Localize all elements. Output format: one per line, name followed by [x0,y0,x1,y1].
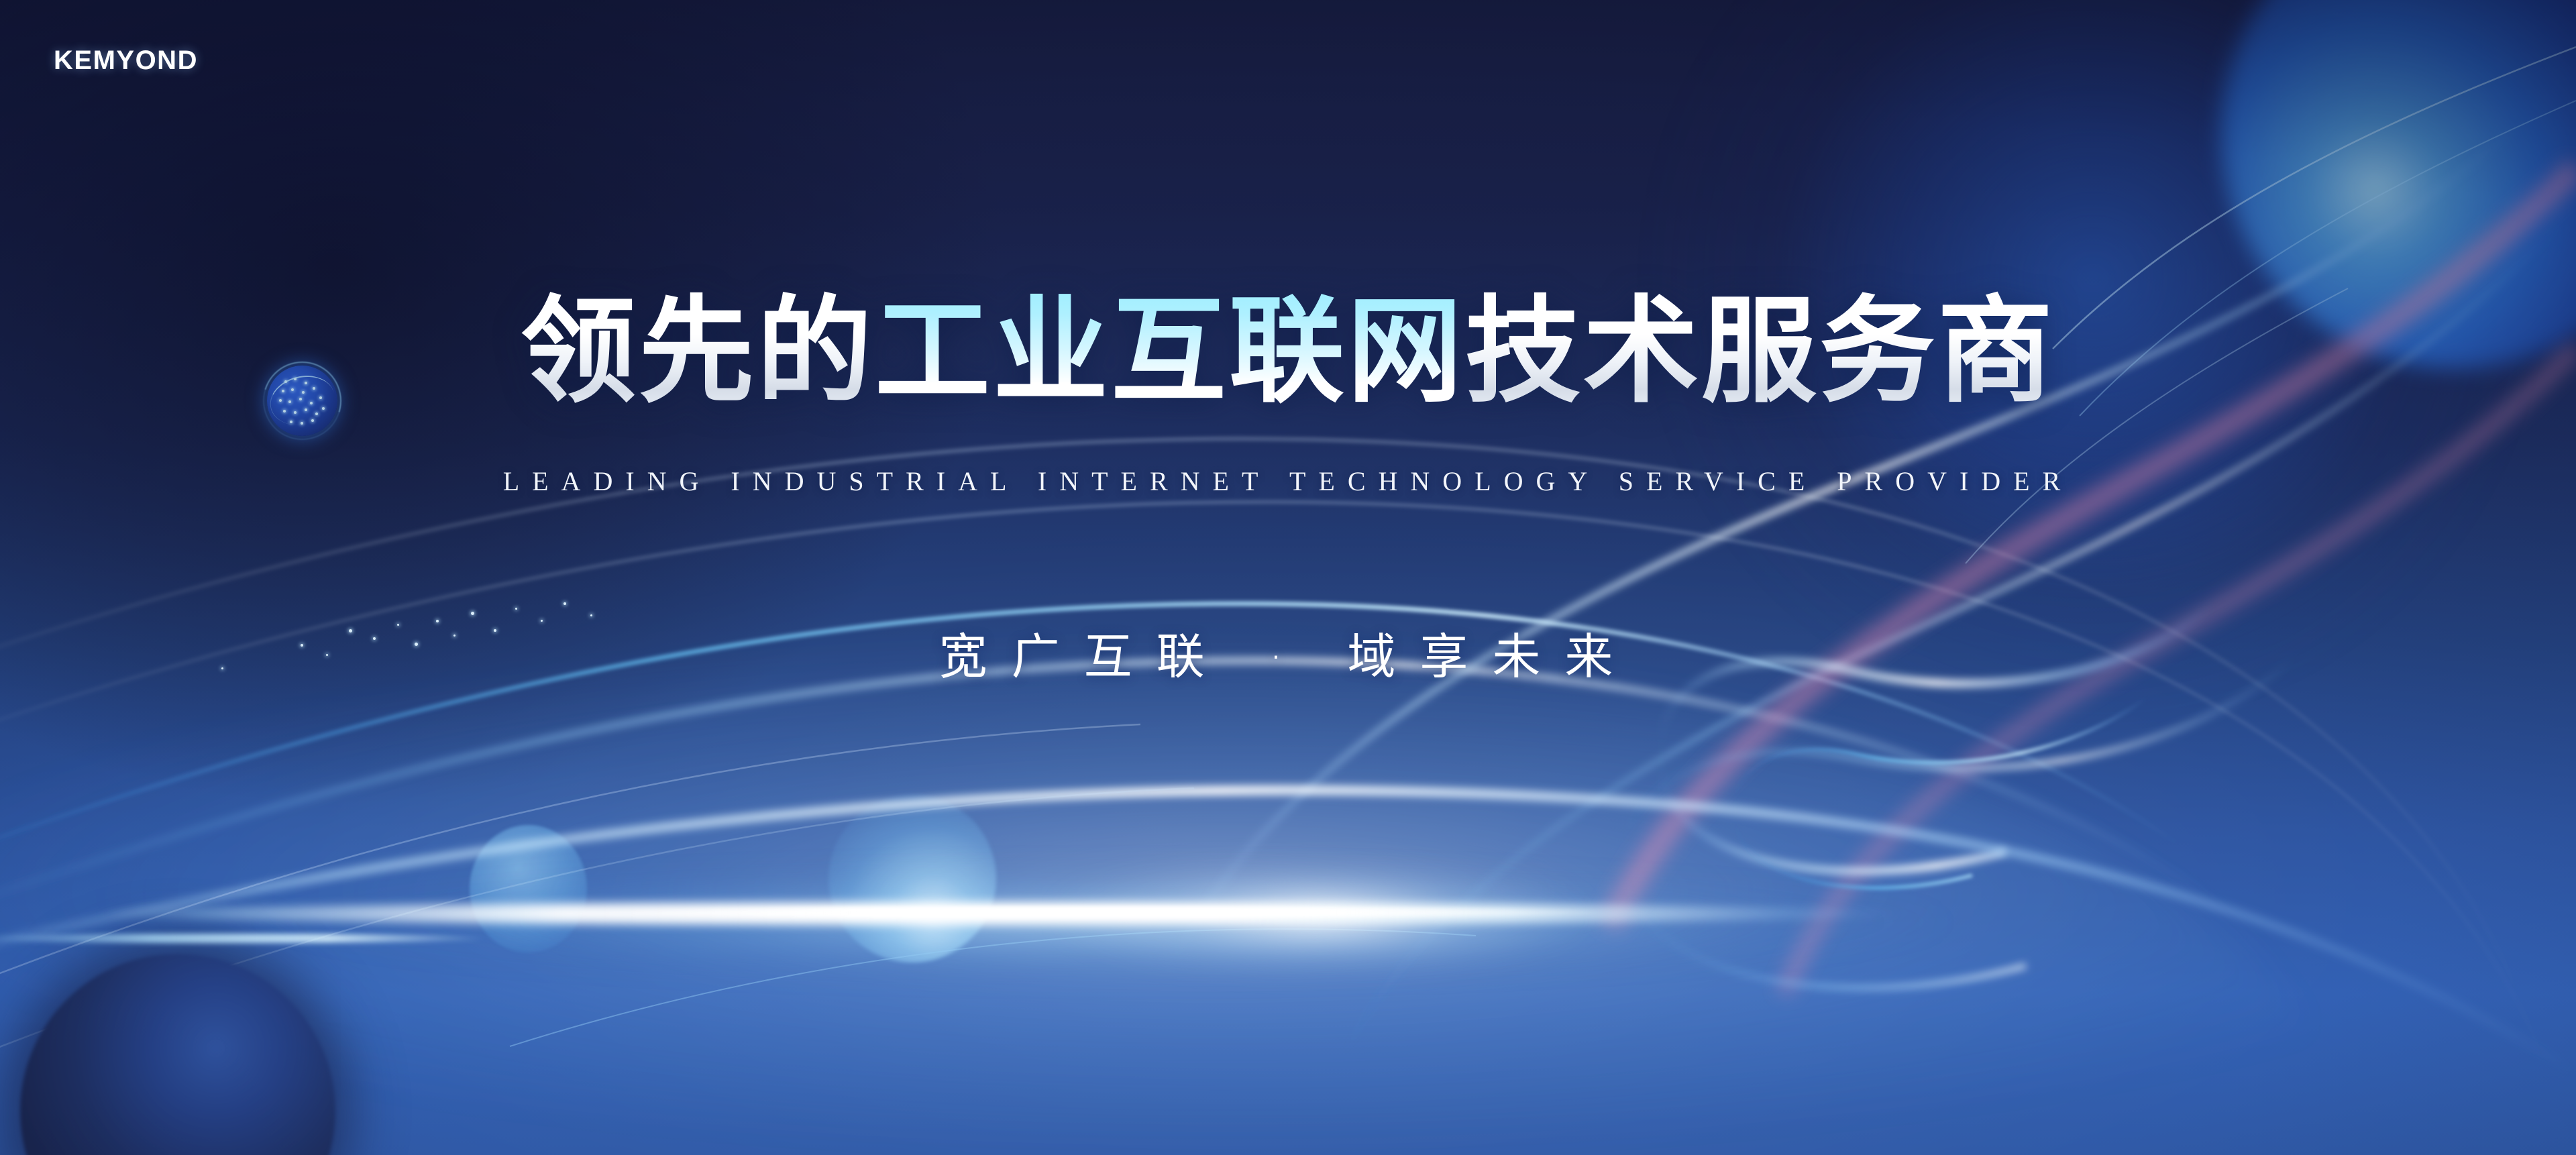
hero-headline: 领先的工业互联网技术服务商 [0,294,2576,409]
headline-part-2: 工业互联网 [875,284,1465,419]
sparkle-particles [0,0,2576,1155]
brand-logo[interactable]: KEMYOND [54,46,198,76]
hero-tagline: 宽广互联 · 域享未来 [0,617,2576,687]
poster-canvas: KEMYOND 领先的工业互联网技术服务商 LEADING INDUSTRIAL… [0,0,2576,1155]
hero-subtitle: LEADING INDUSTRIAL INTERNET TECHNOLOGY S… [0,465,2576,497]
headline-part-1: 领先的 [521,284,875,419]
headline-part-3: 技术服务商 [1465,284,2055,419]
